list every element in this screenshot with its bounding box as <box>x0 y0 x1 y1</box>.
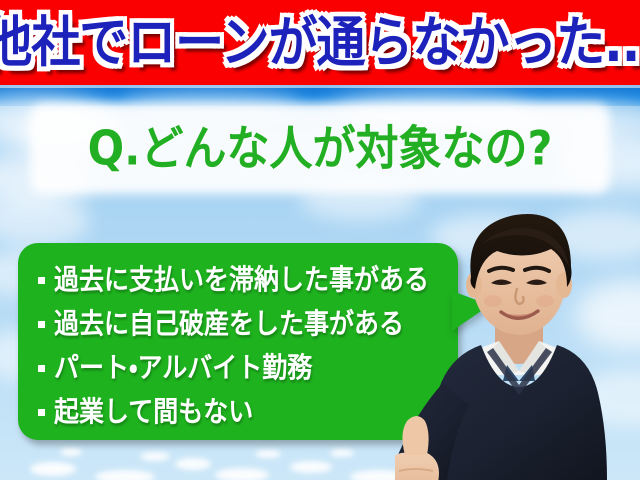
advertisement-banner: 過去に支払いを滞納した事がある 過去に自己破産をした事がある パート・アルバイト… <box>0 0 640 480</box>
headline-text: 他社でローンが通らなかった... <box>0 15 640 70</box>
list-item-label: パート・アルバイト勤務 <box>54 353 312 381</box>
question-text: Q.どんな人が対象なの? <box>88 125 553 172</box>
headline-container: 他社でローンが通らなかった... <box>0 0 640 85</box>
square-bullet-icon <box>38 321 45 328</box>
list-item-label: 過去に支払いを滞納した事がある <box>54 265 429 293</box>
question-text-container: Q.どんな人が対象なの? <box>30 104 610 194</box>
square-bullet-icon <box>38 277 45 284</box>
header-underline <box>0 85 640 88</box>
list-item-label: 起業して間もない <box>54 397 253 425</box>
thumbs-up-man-photo <box>395 205 640 480</box>
list-item-label: 過去に自己破産をした事がある <box>54 309 404 337</box>
square-bullet-icon <box>38 365 45 372</box>
square-bullet-icon <box>38 409 45 416</box>
eligibility-list: 過去に支払いを滞納した事がある 過去に自己破産をした事がある パート・アルバイト… <box>18 243 458 440</box>
